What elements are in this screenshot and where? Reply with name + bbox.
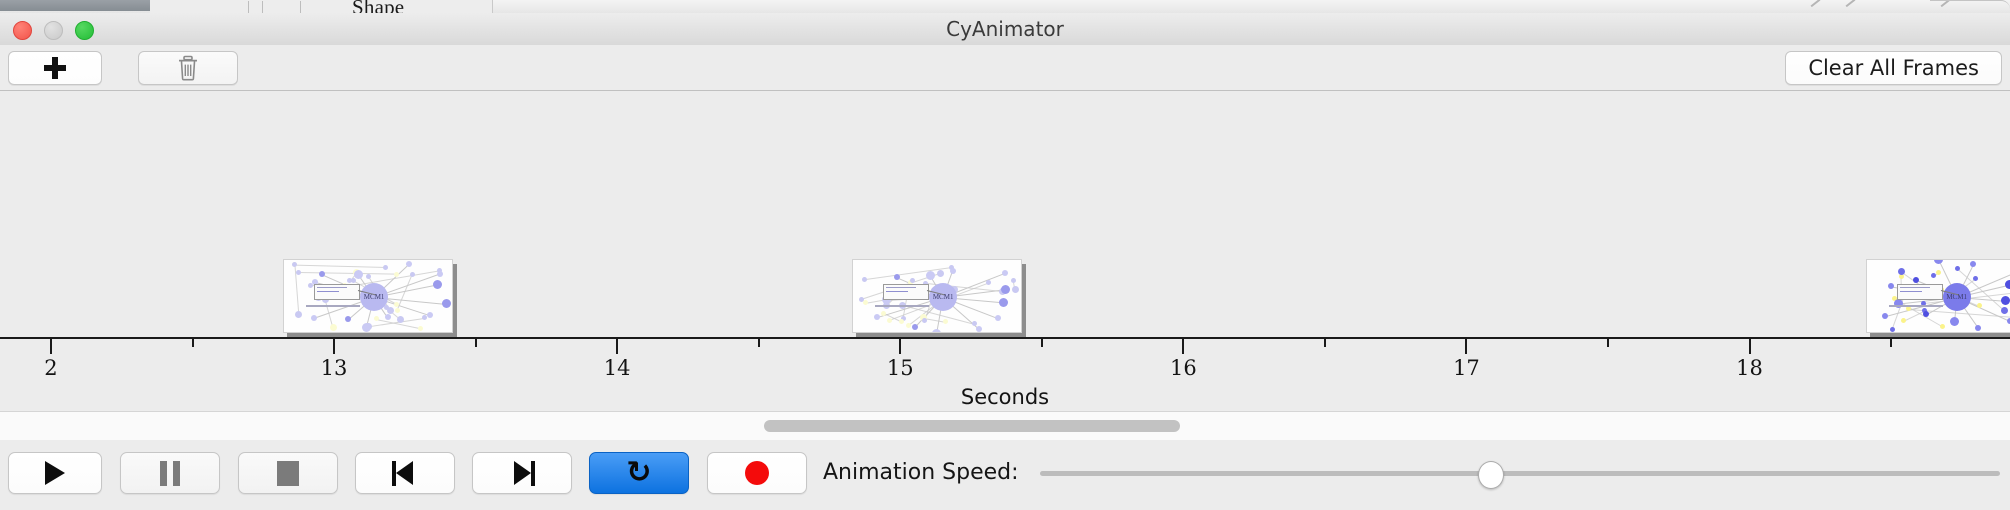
minimize-button[interactable] <box>44 21 63 40</box>
axis-tick-major <box>50 339 52 354</box>
graph-node <box>295 311 302 318</box>
graph-node <box>2005 280 2010 289</box>
graph-node <box>862 277 867 282</box>
record-button[interactable] <box>707 452 807 494</box>
background-window-label: Shape <box>352 0 404 13</box>
graph-node <box>427 312 433 318</box>
graph-node <box>433 280 442 289</box>
loop-button[interactable]: ↻ <box>589 452 689 494</box>
graph-node <box>292 262 297 267</box>
graph-node <box>394 302 399 307</box>
axis-tick-major <box>1749 339 1751 354</box>
graph-node <box>418 326 423 331</box>
graph-node <box>383 265 388 270</box>
graph-node <box>362 323 371 332</box>
graph-node <box>1975 325 1981 331</box>
stop-button[interactable] <box>238 452 338 494</box>
graph-node <box>943 319 948 324</box>
graph-node <box>354 270 363 279</box>
axis-tick-label: 2 <box>44 356 57 380</box>
graph-node <box>1931 273 1936 278</box>
graph-node <box>394 272 399 277</box>
axis-tick-label: 15 <box>887 356 914 380</box>
graph-node <box>1011 278 1016 283</box>
graph-node <box>442 299 451 308</box>
background-slash <box>1846 0 1856 7</box>
background-titlebar-dark <box>0 0 150 11</box>
plus-icon <box>44 57 66 79</box>
graph-tooltip-text <box>886 291 908 292</box>
axis-tick-minor <box>475 339 477 347</box>
frame-thumbnail-2[interactable]: MCM1 <box>852 259 1022 333</box>
graph-node <box>937 270 944 277</box>
graph-node <box>1901 318 1906 323</box>
title-bar[interactable]: CyAnimator <box>0 13 2010 46</box>
background-segment <box>228 0 353 13</box>
axis-tick-minor <box>1607 339 1609 347</box>
axis-tick-minor <box>1041 339 1043 347</box>
graph-node <box>374 316 379 321</box>
axis-tick-major <box>1182 339 1184 354</box>
graph-edge <box>299 272 397 275</box>
graph-node <box>950 268 956 274</box>
thumbnail-canvas: MCM1 <box>852 259 1022 333</box>
thumbnail-canvas: MCM1 <box>1866 259 2010 333</box>
graph-node <box>2001 307 2008 314</box>
graph-edge <box>1903 311 1924 322</box>
background-tick <box>300 1 301 13</box>
background-tick <box>262 1 263 13</box>
graph-edge <box>294 265 385 268</box>
graph-node <box>986 280 991 285</box>
axis-tick-minor <box>192 339 194 347</box>
animation-speed-slider[interactable] <box>1040 452 2000 494</box>
skip-start-button[interactable] <box>355 452 455 494</box>
close-button[interactable] <box>13 21 32 40</box>
graph-node <box>345 316 351 322</box>
background-window-strip: Shape <box>0 0 2010 13</box>
skip-start-icon <box>392 461 418 486</box>
graph-node <box>330 324 337 331</box>
graph-node <box>1012 286 1019 293</box>
graph-node <box>2007 318 2010 324</box>
graph-node <box>1923 311 1929 317</box>
graph-node <box>406 261 412 267</box>
graph-node <box>1973 276 1978 281</box>
graph-node <box>976 326 982 332</box>
graph-node <box>1888 283 1894 289</box>
graph-node <box>922 318 927 323</box>
graph-node <box>385 314 391 320</box>
graph-node <box>995 315 1001 321</box>
slider-thumb[interactable] <box>1478 461 1504 489</box>
stop-icon <box>277 461 299 486</box>
animation-speed-label: Animation Speed: <box>823 452 1019 494</box>
graph-caption-text <box>1889 305 1943 307</box>
graph-caption-text <box>306 305 360 307</box>
skip-end-icon <box>509 461 535 486</box>
graph-node <box>1890 327 1895 332</box>
axis-title: Seconds <box>0 385 2010 409</box>
graph-node <box>437 271 443 277</box>
graph-tooltip-text <box>317 287 347 288</box>
axis-tick-major <box>899 339 901 354</box>
record-icon <box>745 461 769 485</box>
graph-node <box>1882 313 1888 319</box>
graph-node <box>932 329 941 333</box>
maximize-button[interactable] <box>75 21 94 40</box>
graph-node <box>311 315 317 321</box>
graph-node <box>899 319 904 324</box>
axis-tick-minor <box>1324 339 1326 347</box>
loop-icon: ↻ <box>626 459 651 487</box>
window-controls <box>13 21 94 40</box>
background-tick <box>248 1 249 13</box>
graph-hub-node: MCM1 <box>929 283 957 311</box>
graph-node <box>1955 266 1960 271</box>
pause-icon <box>160 461 180 486</box>
graph-node <box>410 272 415 277</box>
graph-node <box>999 298 1008 307</box>
timeline-axis <box>0 337 2010 339</box>
graph-node <box>1002 270 1008 276</box>
clear-all-frames-label: Clear All Frames <box>1808 56 1979 80</box>
add-frame-button[interactable] <box>8 51 102 85</box>
axis-tick-label: 13 <box>321 356 348 380</box>
scrollbar-track[interactable] <box>0 411 2010 441</box>
graph-node <box>910 278 915 283</box>
window-title: CyAnimator <box>0 13 2010 45</box>
toolbar: Clear All Frames <box>0 45 2010 91</box>
graph-node <box>2001 296 2010 305</box>
playback-bar: ↻ Animation Speed: <box>0 440 2010 510</box>
graph-node <box>906 323 911 328</box>
background-window-corner <box>1930 0 2010 13</box>
axis-tick-label: 18 <box>1736 356 1763 380</box>
axis-tick-major <box>333 339 335 354</box>
background-segment <box>150 0 229 13</box>
graph-node <box>1936 270 1941 275</box>
timeline-panel[interactable]: MCM1MCM1MCM1 2131415161718 Seconds <box>0 91 2010 411</box>
frame-thumbnail-3[interactable]: MCM1 <box>1866 259 2010 333</box>
axis-tick-minor <box>1890 339 1892 347</box>
graph-node <box>1970 261 1976 267</box>
axis-tick-label: 14 <box>604 356 631 380</box>
graph-node <box>863 300 868 305</box>
graph-tooltip-text <box>1900 287 1930 288</box>
graph-node <box>422 315 427 320</box>
play-button[interactable] <box>8 452 102 494</box>
delete-frame-button[interactable] <box>138 51 238 85</box>
graph-node <box>296 270 301 275</box>
axis-tick-minor <box>758 339 760 347</box>
axis-tick-major <box>1465 339 1467 354</box>
graph-node <box>926 271 935 280</box>
axis-tick-major <box>616 339 618 354</box>
background-slash <box>1811 0 1821 7</box>
graph-hub-node: MCM1 <box>360 283 388 311</box>
graph-node <box>366 274 371 279</box>
slider-track <box>1040 471 2000 476</box>
graph-node <box>912 324 918 330</box>
graph-node <box>395 308 400 313</box>
horizontal-scrollbar[interactable] <box>764 420 1180 432</box>
graph-tooltip-text <box>317 291 339 292</box>
thumbnail-canvas: MCM1 <box>283 259 453 333</box>
graph-node <box>1950 317 1959 326</box>
cyanimator-window: Shape CyAnimator Cl <box>0 0 2010 510</box>
play-icon <box>45 461 65 485</box>
skip-end-button[interactable] <box>472 452 572 494</box>
graph-hub-node: MCM1 <box>1943 283 1971 311</box>
clear-all-frames-button[interactable]: Clear All Frames <box>1785 51 2002 85</box>
graph-node <box>881 311 886 316</box>
pause-button[interactable] <box>120 452 220 494</box>
frame-thumbnail-1[interactable]: MCM1 <box>283 259 453 333</box>
axis-tick-label: 16 <box>1170 356 1197 380</box>
graph-node <box>887 318 892 323</box>
graph-node <box>1001 285 1010 294</box>
graph-tooltip-text <box>1900 291 1922 292</box>
graph-tooltip-text <box>886 287 916 288</box>
graph-node <box>1934 259 1943 264</box>
graph-node <box>874 314 880 320</box>
graph-node <box>1940 324 1945 329</box>
trash-icon <box>176 55 200 81</box>
axis-tick-label: 17 <box>1453 356 1480 380</box>
graph-caption-text <box>875 305 929 307</box>
